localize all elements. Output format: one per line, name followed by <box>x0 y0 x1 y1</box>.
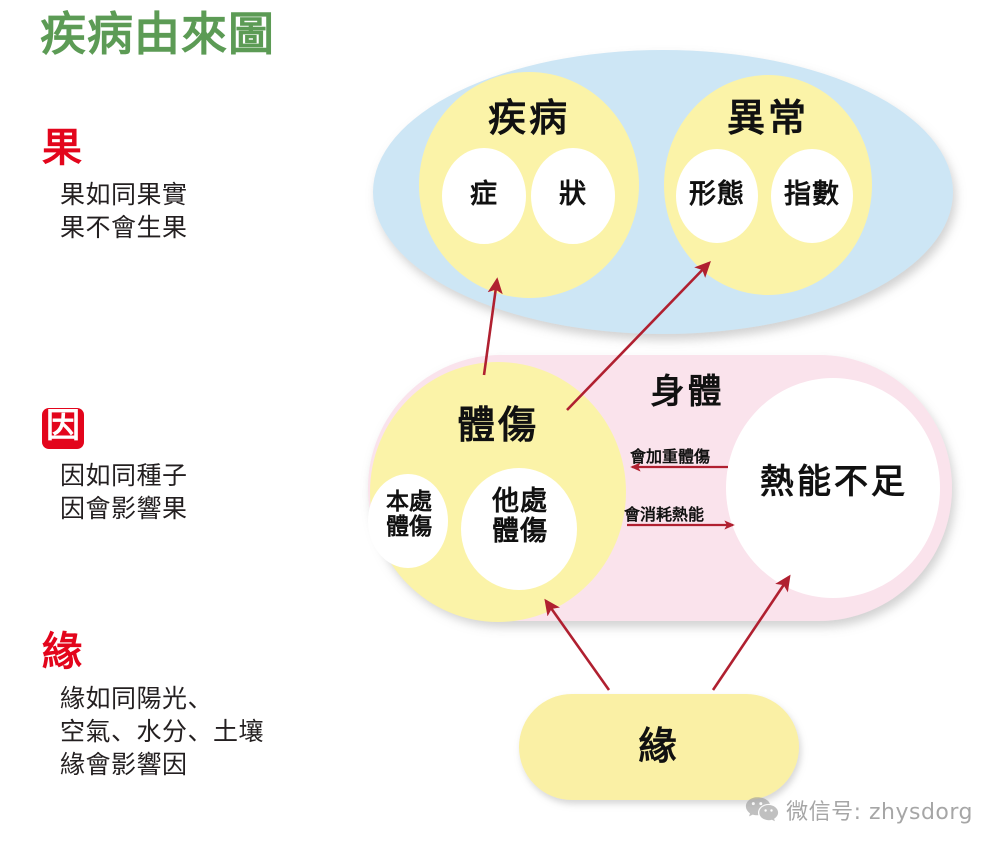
wechat-icon <box>745 796 779 824</box>
indicator-circle-1 <box>676 149 758 243</box>
legend-key-cause: 因 <box>42 408 84 449</box>
relation-label-aggravates: 會加重體傷 <box>630 443 710 467</box>
legend-desc-condition: 緣如同陽光、 空氣、水分、土壤 緣會影響因 <box>60 682 264 781</box>
remote-injury-circle <box>461 468 577 590</box>
local-injury-circle <box>368 474 448 568</box>
legend-key-result: 果 <box>42 128 188 168</box>
condition-box <box>519 694 799 800</box>
symptom-circle-1 <box>442 148 526 244</box>
legend-item-result: 果 果如同果實 果不會生果 <box>42 128 188 244</box>
legend-desc-result: 果如同果實 果不會生果 <box>60 178 188 244</box>
watermark: 微信号: zhysdorg <box>745 794 973 826</box>
relation-label-consumes: 會消耗熱能 <box>624 501 704 525</box>
page-title: 疾病由來圖 <box>40 8 275 61</box>
legend-key-condition: 緣 <box>42 632 264 672</box>
symptom-circle-2 <box>531 148 615 244</box>
energy-deficit-circle <box>726 378 940 598</box>
indicator-circle-2 <box>771 149 853 243</box>
legend-item-cause: 因 因如同種子 因會影響果 <box>42 408 188 525</box>
legend-item-condition: 緣 緣如同陽光、 空氣、水分、土壤 緣會影響因 <box>42 632 264 781</box>
legend-desc-cause: 因如同種子 因會影響果 <box>60 459 188 525</box>
watermark-text: 微信号: zhysdorg <box>786 794 973 826</box>
